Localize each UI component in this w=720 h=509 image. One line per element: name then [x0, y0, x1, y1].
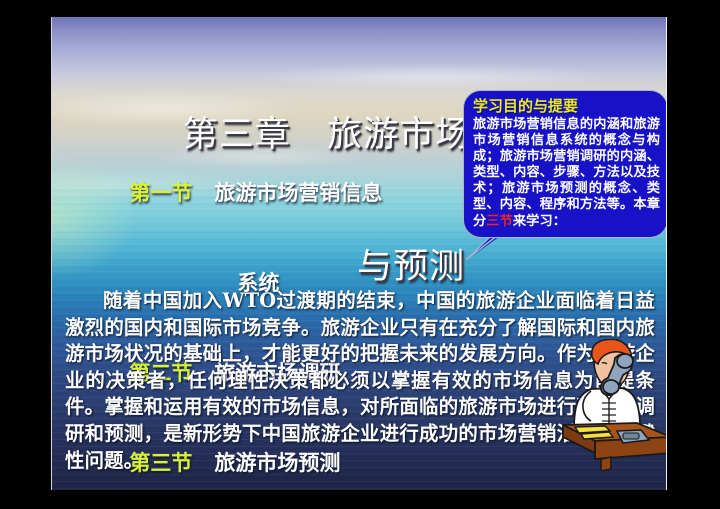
- callout-text-part-1: 旅游市场营销信息的内涵和旅游市场营销信息系统的概念与构成；旅游市场营销调研的内涵…: [473, 117, 660, 229]
- callout-text-part-2: 来学习：: [513, 214, 566, 229]
- callout-heading: 学习目的与提要: [473, 96, 660, 116]
- man-on-telephone-at-desk-icon: [561, 339, 667, 471]
- section-1-number: 第一节: [129, 180, 192, 205]
- section-1-title: 旅游市场营销信息: [192, 180, 382, 205]
- screen-letterbox: 第三章 旅游市场调研 与预测 第一节 旅游市场营销信息 系统 第二节 旅游市场调…: [0, 0, 720, 509]
- callout-body: 学习目的与提要 旅游市场营销信息的内涵和旅游市场营销信息系统的概念与构成；旅游市…: [463, 90, 667, 238]
- learning-objectives-callout: 学习目的与提要 旅游市场营销信息的内涵和旅游市场营销信息系统的概念与构成；旅游市…: [463, 90, 667, 256]
- section-item-1[interactable]: 第一节 旅游市场营销信息: [76, 148, 382, 238]
- presentation-slide: 第三章 旅游市场调研 与预测 第一节 旅游市场营销信息 系统 第二节 旅游市场调…: [51, 17, 667, 490]
- callout-text: 旅游市场营销信息的内涵和旅游市场营销信息系统的概念与构成；旅游市场营销调研的内涵…: [473, 117, 660, 230]
- callout-text-highlight: 三节: [486, 214, 513, 229]
